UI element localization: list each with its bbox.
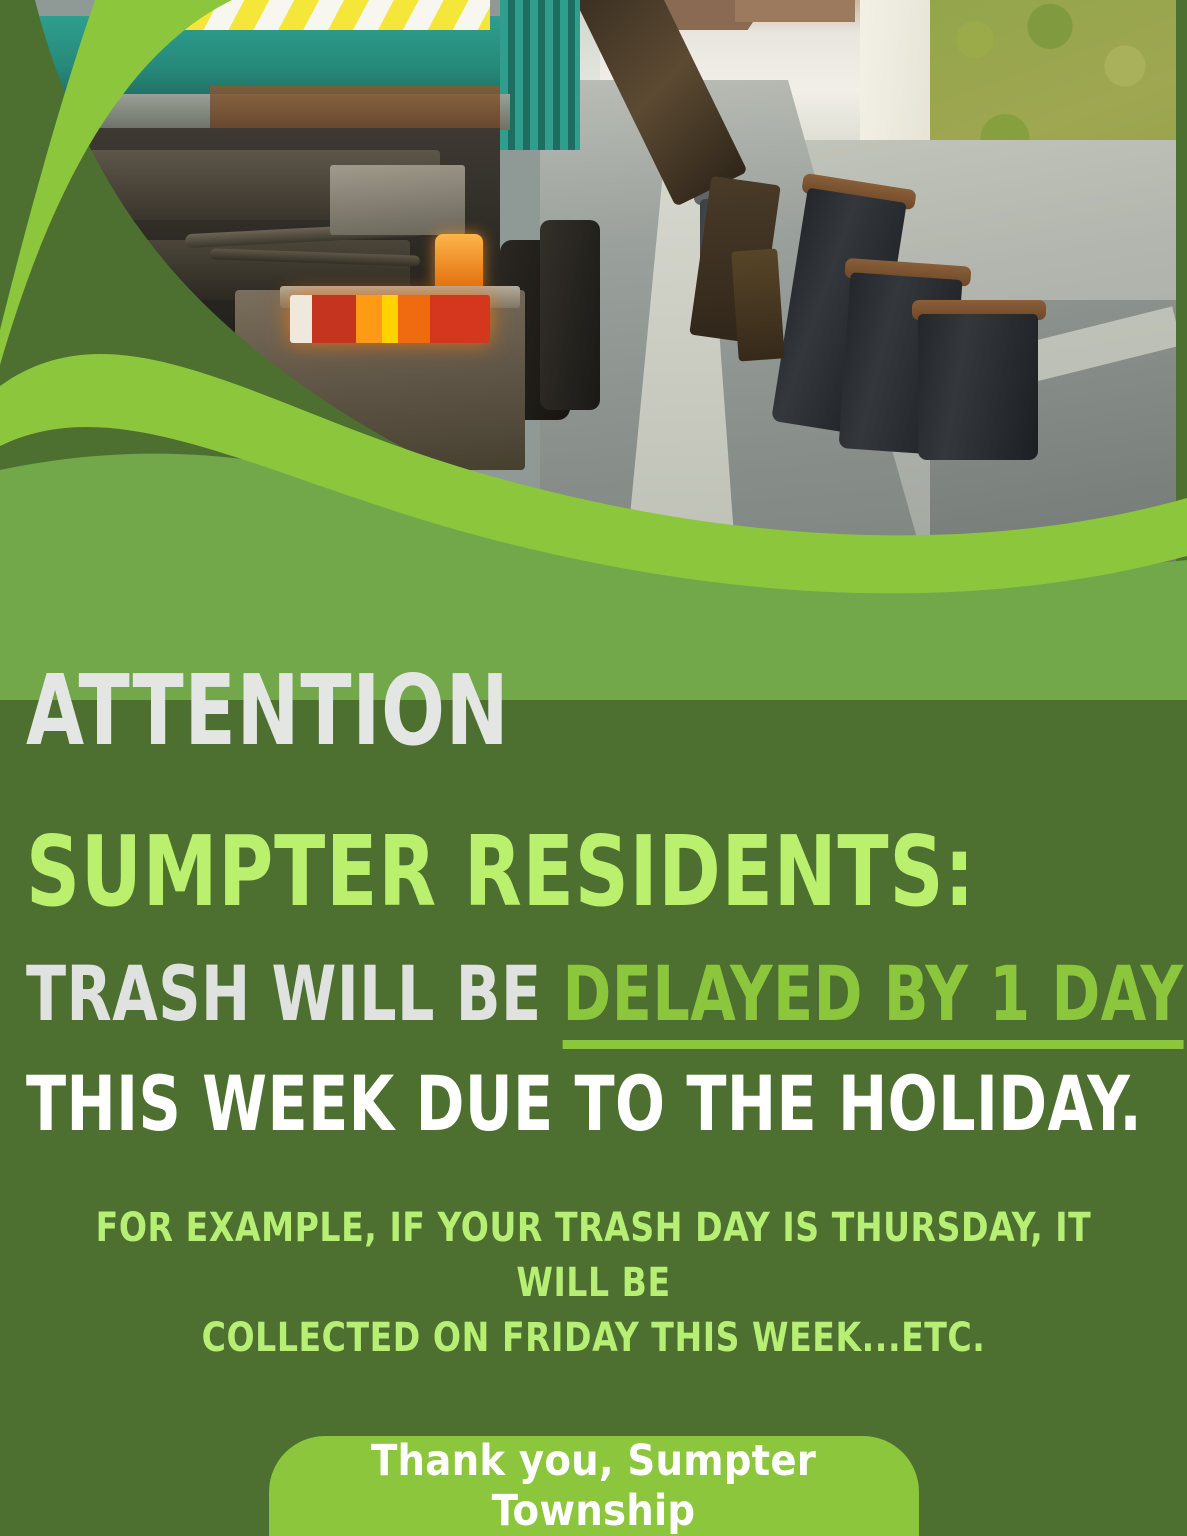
taillight-cluster (290, 295, 490, 343)
truck-ribbing (500, 0, 580, 150)
body-line-delay: TRASH WILL BE DELAYED BY 1 DAY (26, 954, 1024, 1035)
grabber-claw (731, 249, 785, 362)
house-roof-secondary (735, 0, 855, 22)
bin-body (918, 314, 1038, 460)
poster-copy: ATTENTION SUMPTER RESIDENTS: TRASH WILL … (0, 662, 1187, 1367)
wheelie-bin-front (918, 300, 1038, 460)
example-subtext: FOR EXAMPLE, IF YOUR TRASH DAY IS THURSD… (0, 1201, 1187, 1367)
amber-beacon-light (435, 234, 483, 289)
headline-residents: SUMPTER RESIDENTS: (26, 823, 1024, 922)
body-line-delay-highlight: DELAYED BY 1 DAY (563, 949, 1184, 1049)
garbage-truck-photo (0, 0, 1176, 620)
headline-attention: ATTENTION (26, 662, 1024, 761)
truck-toolbox (330, 165, 465, 235)
example-subtext-line-1: FOR EXAMPLE, IF YOUR TRASH DAY IS THURSD… (47, 1201, 1139, 1311)
body-line-holiday: THIS WEEK DUE TO THE HOLIDAY. (26, 1064, 1024, 1145)
poster: ATTENTION SUMPTER RESIDENTS: TRASH WILL … (0, 0, 1187, 1536)
truck-wheel-front (540, 220, 600, 410)
example-subtext-line-2: COLLECTED ON FRIDAY THIS WEEK...ETC. (47, 1311, 1139, 1366)
thank-you-button[interactable]: Thank you, Sumpter Township (269, 1436, 919, 1536)
hazard-stripes (150, 0, 490, 30)
garbage-truck (0, 0, 600, 460)
hero-photo (0, 0, 1176, 620)
thank-you-row: Thank you, Sumpter Township (0, 1436, 1187, 1536)
body-line-delay-prefix: TRASH WILL BE (26, 949, 563, 1038)
